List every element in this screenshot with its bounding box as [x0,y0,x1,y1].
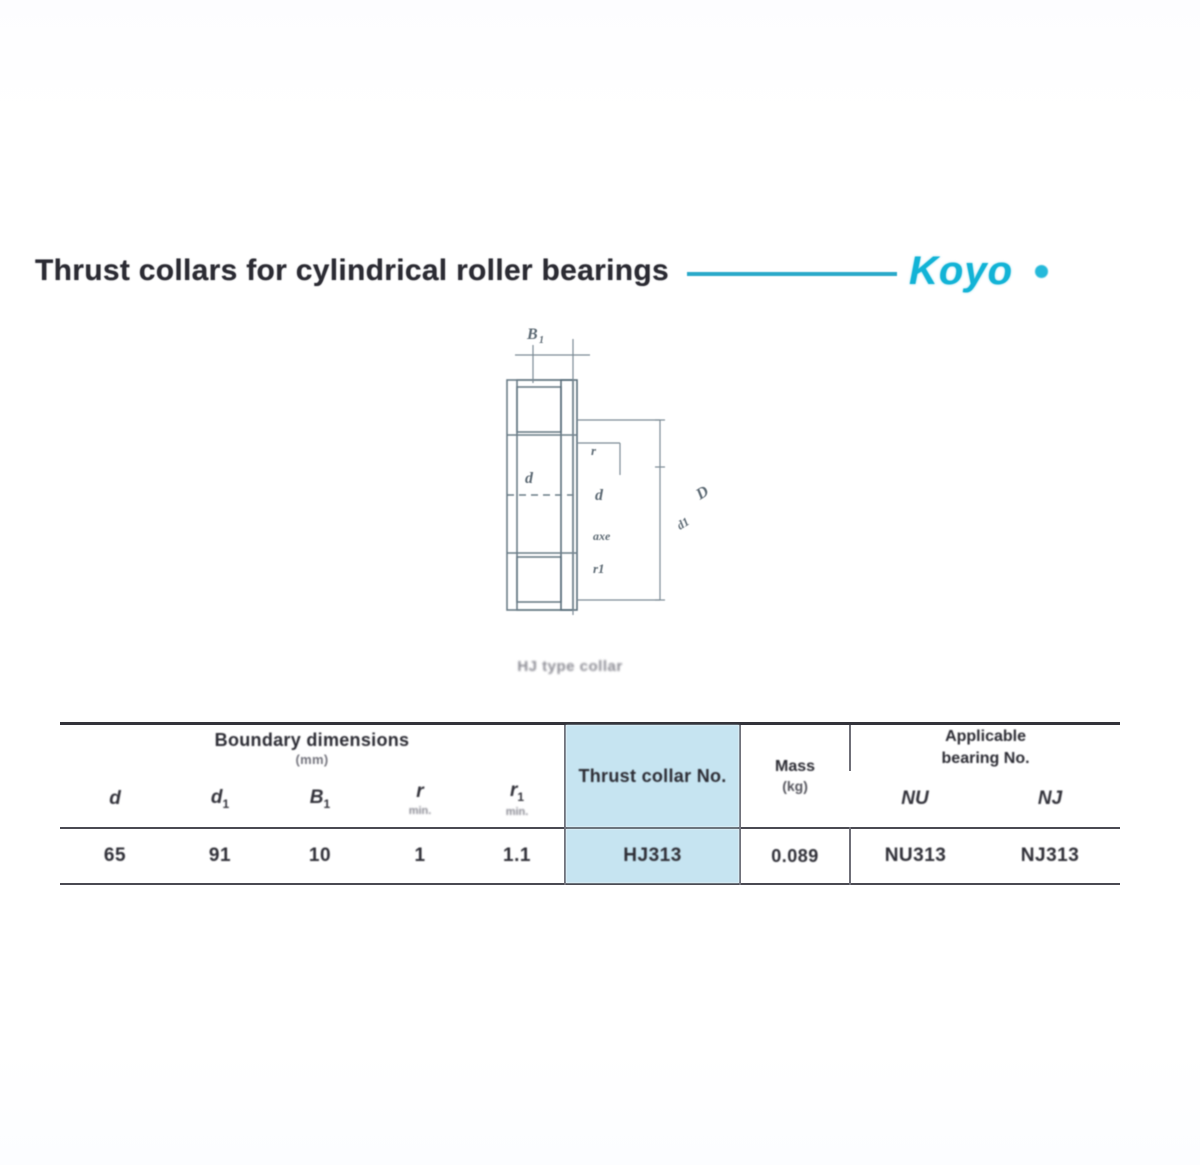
group-header-boundary-label: Boundary dimensions [215,730,410,750]
figure-label-d1-sub: 1 [539,335,544,346]
col-header-bearing-nu: NU [850,771,980,828]
cell-mass: 0.089 [740,828,850,884]
col-header-r1-note: min. [470,806,564,818]
cell-r1: 1.1 [470,828,565,884]
col-header-bearing-nj: NJ [980,771,1120,828]
group-header-bearing-line1: Applicable [851,726,1120,748]
col-header-r1: r1 min. [470,771,565,828]
group-header-applicable-bearing-no: Applicable bearing No. [850,724,1120,772]
cell-bearing-nu: NU313 [850,828,980,884]
col-header-d-symbol: d [109,788,121,809]
figure-label-r: r [591,443,597,458]
page-title: Thrust collars for cylindrical roller be… [35,254,669,288]
group-header-boundary-unit: (mm) [60,752,564,767]
figure-label-d: d [525,470,534,487]
figure-caption: HJ type collar [420,658,720,675]
group-header-boundary-dimensions: Boundary dimensions (mm) [60,724,565,772]
col-header-d1-symbol: d [211,787,223,808]
figure-label-dia2: d1 [674,514,692,532]
figure-label-r1: r1 [593,561,605,576]
cell-b1: 10 [270,828,370,884]
figure-label-d1: B [526,326,538,343]
col-header-b1-sub: 1 [324,797,331,811]
cell-thrust-collar-no: HJ313 [565,828,740,884]
col-header-d: d [60,771,170,828]
figure-label-b1: d [595,487,604,504]
col-header-r-note: min. [370,805,470,817]
catalog-sheet: Thrust collars for cylindrical roller be… [0,0,1200,1165]
group-header-mass-line2: (kg) [741,777,849,796]
bearing-cross-section-figure: B 1 d r d axe r1 D d1 [455,325,795,655]
col-header-b1: B1 [270,771,370,828]
title-rule [687,272,897,276]
group-header-mass: Mass (kg) [740,724,850,829]
brand-text: Koyo [909,249,1013,293]
col-header-nu-symbol: NU [901,788,928,809]
cell-r: 1 [370,828,470,884]
col-header-r-symbol: r [416,781,423,802]
group-header-collar-label: Thrust collar No. [578,766,726,786]
col-header-nj-symbol: NJ [1038,788,1062,809]
cell-d: 65 [60,828,170,884]
col-header-d1: d1 [170,771,270,828]
cell-d1: 91 [170,828,270,884]
brand-dot-icon [1035,265,1048,278]
col-header-b1-symbol: B [310,787,324,808]
table-row[interactable]: 65 91 10 1 1.1 HJ313 0.089 NU313 NJ313 [60,828,1120,884]
col-header-r: r min. [370,771,470,828]
spec-table-container: Boundary dimensions (mm) Thrust collar N… [60,722,1120,912]
cell-bearing-nj: NJ313 [980,828,1120,884]
spec-table: Boundary dimensions (mm) Thrust collar N… [60,722,1120,885]
col-header-d1-sub: 1 [222,797,229,811]
figure-label-dash: axe [593,529,611,543]
group-header-thrust-collar-no: Thrust collar No. [565,724,740,829]
page-header: Thrust collars for cylindrical roller be… [35,243,1195,299]
bearing-diagram-svg: B 1 d r d axe r1 D d1 [455,325,795,655]
figure-label-dia: D [692,483,712,504]
col-header-r1-sub: 1 [517,790,524,804]
koyo-logo: Koyo [909,249,1013,294]
group-header-bearing-line2: bearing No. [851,748,1120,770]
table-group-header-row: Boundary dimensions (mm) Thrust collar N… [60,724,1120,772]
group-header-mass-line1: Mass [741,756,849,778]
